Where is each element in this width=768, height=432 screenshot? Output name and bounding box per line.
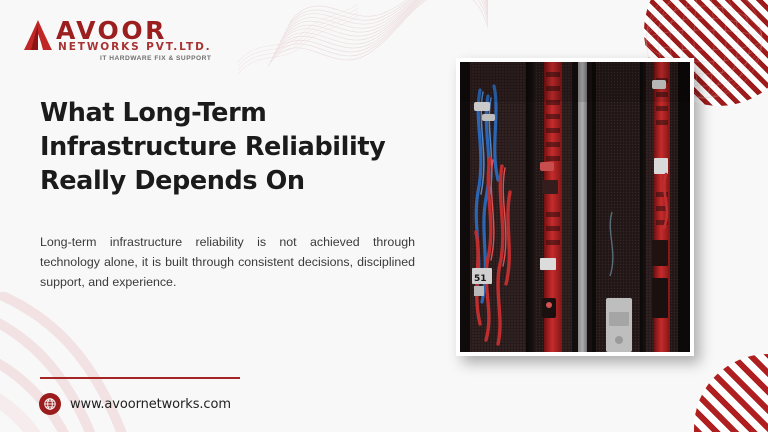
wavy-lines-decoration bbox=[268, 0, 488, 90]
corner-stripes-fill bbox=[694, 354, 768, 432]
headline-line-2: Infrastructure Reliability bbox=[40, 130, 418, 164]
avoor-a-mark-icon bbox=[24, 20, 52, 50]
footer-divider bbox=[40, 377, 240, 379]
body-paragraph: Long-term infrastructure reliability is … bbox=[40, 232, 415, 292]
headline-line-1: What Long-Term bbox=[40, 96, 418, 130]
website-link[interactable]: www.avoornetworks.com bbox=[39, 393, 231, 415]
wavy-lines-decoration-secondary bbox=[238, 4, 358, 84]
slide-canvas: AVOOR NETWORKS PVT.LTD. IT HARDWARE FIX … bbox=[0, 0, 768, 432]
brand-subtitle-text: NETWORKS PVT.LTD. bbox=[58, 41, 212, 53]
hero-image: 51 bbox=[460, 62, 690, 352]
page-title: What Long-Term Infrastructure Reliabilit… bbox=[40, 96, 418, 198]
website-url-text: www.avoornetworks.com bbox=[70, 397, 231, 412]
brand-tagline-text: IT HARDWARE FIX & SUPPORT bbox=[100, 55, 211, 62]
globe-icon bbox=[39, 393, 61, 415]
headline-block: What Long-Term Infrastructure Reliabilit… bbox=[40, 96, 418, 198]
diagonal-stripes-corner-decoration bbox=[694, 354, 768, 432]
hero-image-frame: 51 bbox=[456, 58, 694, 356]
headline-line-3: Really Depends On bbox=[40, 164, 418, 198]
brand-logo[interactable]: AVOOR NETWORKS PVT.LTD. IT HARDWARE FIX … bbox=[22, 12, 232, 62]
